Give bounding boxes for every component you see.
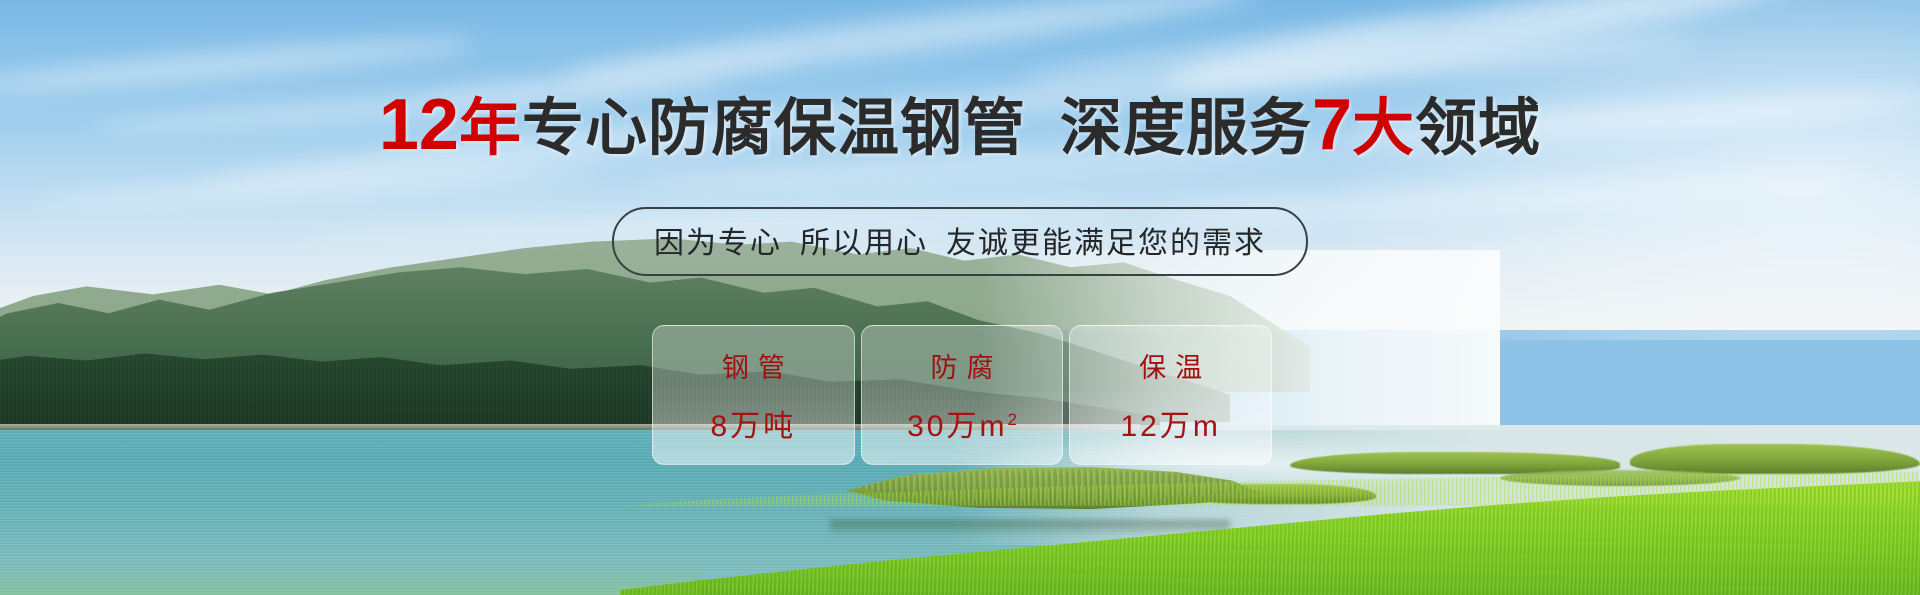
headline-big-char: 大	[1352, 94, 1415, 163]
headline-service-text: 深度服务	[1060, 94, 1312, 163]
stat-value-text: 12万m	[1121, 410, 1221, 443]
stat-card-value: 30万m2	[907, 401, 1017, 445]
stat-card-title: 保温	[1130, 346, 1211, 385]
stat-value-superscript: 2	[1007, 410, 1016, 429]
banner-subtitle-pill: 因为专心所以用心友诚更能满足您的需求	[612, 207, 1308, 276]
grass-left-shadow	[0, 560, 700, 595]
subtitle-part-1: 因为专心	[654, 227, 782, 260]
stat-card-insulation[interactable]: 保温 12万m	[1069, 325, 1272, 465]
headline-main-text: 专心防腐保温钢管	[522, 94, 1026, 163]
subtitle-part-2: 所以用心	[800, 227, 928, 260]
promo-banner: 12年专心防腐保温钢管深度服务7大领域 因为专心所以用心友诚更能满足您的需求 钢…	[0, 0, 1920, 595]
stat-card-value: 8万吨	[710, 401, 796, 445]
marsh-patch	[1630, 444, 1920, 474]
banner-subtitle-wrap: 因为专心所以用心友诚更能满足您的需求	[0, 207, 1920, 276]
headline-years-number: 12	[379, 85, 459, 165]
headline-years-unit: 年	[459, 94, 522, 163]
subtitle-part-3: 友诚更能满足您的需求	[946, 227, 1266, 260]
stat-card-anticorrosion[interactable]: 防腐 30万m2	[861, 325, 1064, 465]
headline-fields-text: 领域	[1415, 94, 1541, 163]
stat-card-value: 12万m	[1121, 401, 1221, 445]
stat-value-text: 30万m	[907, 410, 1007, 443]
island-reflection	[830, 520, 1230, 536]
stat-card-group: 钢管 8万吨 防腐 30万m2 保温 12万m	[652, 325, 1272, 465]
stat-card-title: 钢管	[713, 346, 794, 385]
banner-headline: 12年专心防腐保温钢管深度服务7大领域	[0, 88, 1920, 164]
stat-value-text: 8万吨	[710, 410, 796, 443]
stat-card-steel-pipe[interactable]: 钢管 8万吨	[652, 325, 855, 465]
headline-seven-number: 7	[1312, 85, 1352, 165]
stat-card-title: 防腐	[922, 346, 1003, 385]
